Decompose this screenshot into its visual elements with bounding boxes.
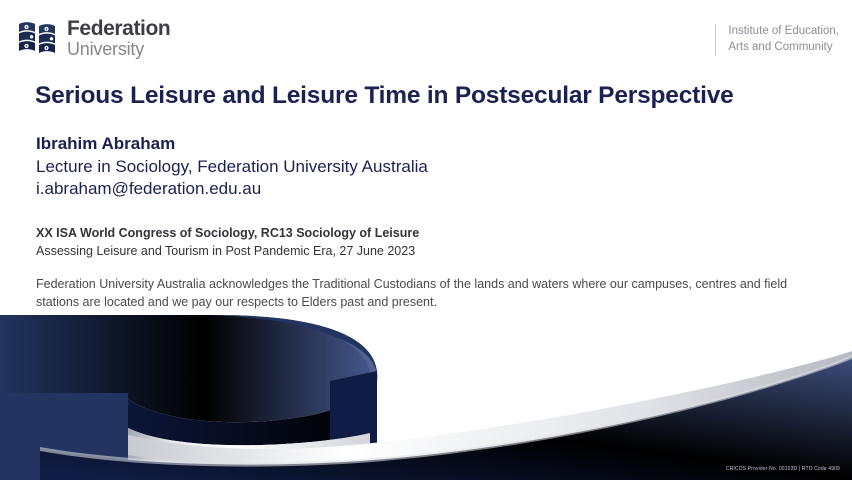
wordmark-federation: Federation xyxy=(67,18,170,39)
decorative-ribbon-graphic xyxy=(0,315,852,480)
page-title: Serious Leisure and Leisure Time in Post… xyxy=(35,82,734,110)
author-role: Lecture in Sociology, Federation Univers… xyxy=(36,156,428,179)
cricos-provider-note: CRICOS Provider No. 00103D | RTO Code 49… xyxy=(726,466,840,472)
federation-flags-logo-icon xyxy=(18,19,60,57)
wordmark-university: University xyxy=(67,40,170,58)
author-name: Ibrahim Abraham xyxy=(36,133,428,156)
acknowledgement-text: Federation University Australia acknowle… xyxy=(36,276,811,312)
university-wordmark: Federation University xyxy=(67,17,170,58)
ribbon-left-strip xyxy=(0,393,30,480)
author-block: Ibrahim Abraham Lecture in Sociology, Fe… xyxy=(36,133,428,201)
institute-line-2: Arts and Community xyxy=(728,40,839,56)
institute-name: Institute of Education, Arts and Communi… xyxy=(715,24,839,56)
institute-line-1: Institute of Education, xyxy=(728,24,839,40)
federation-university-logo: Federation University xyxy=(18,17,170,58)
conference-subtitle: Assessing Leisure and Tourism in Post Pa… xyxy=(36,242,419,260)
author-email: i.abraham@federation.edu.au xyxy=(36,178,428,201)
conference-block: XX ISA World Congress of Sociology, RC13… xyxy=(36,224,419,260)
presentation-slide: Federation University Institute of Educa… xyxy=(0,0,852,480)
conference-title: XX ISA World Congress of Sociology, RC13… xyxy=(36,224,419,242)
